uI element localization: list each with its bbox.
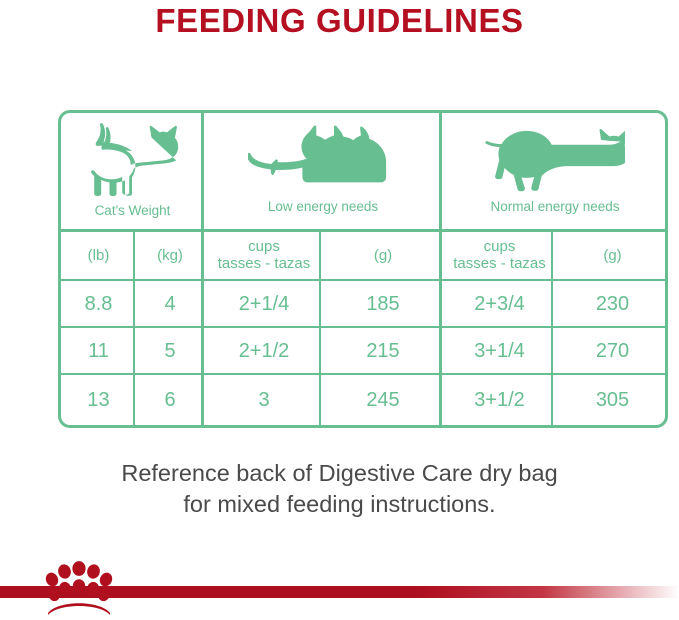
column-header-normal-cups: cups tasses - tazas: [442, 231, 557, 281]
table-cell-normal-cups: 2+3/4: [442, 281, 557, 328]
table-cell-lb: 8.8: [61, 281, 136, 328]
reference-note-line2: for mixed feeding instructions.: [0, 489, 679, 520]
table-cell-lb: 13: [61, 375, 136, 425]
table-cell-normal-grams: 270: [557, 328, 668, 375]
group-header-label: Normal energy needs: [490, 199, 619, 214]
walking-cat-icon: [485, 125, 625, 195]
table-cell-normal-grams: 305: [557, 375, 668, 425]
column-header-line1: cups: [484, 239, 516, 256]
column-divider-lb-kg: [133, 231, 135, 425]
column-divider-low-cups-g: [319, 231, 321, 425]
column-header-low-grams: (g): [324, 231, 442, 281]
column-header-normal-grams: (g): [557, 231, 668, 281]
group-header-low-energy: Low energy needs: [204, 113, 442, 231]
table-cell-normal-cups: 3+1/4: [442, 328, 557, 375]
column-header-line2: tasses - tazas: [218, 256, 311, 273]
table-cell-low-grams: 245: [324, 375, 442, 425]
row-divider-2: [61, 326, 665, 328]
reference-note-line1: Reference back of Digestive Care dry bag: [0, 458, 679, 489]
table-cell-low-grams: 185: [324, 281, 442, 328]
table-cell-low-cups: 2+1/4: [204, 281, 324, 328]
brand-bar-left: [0, 586, 46, 598]
group-divider-1: [201, 113, 204, 425]
table-cell-kg: 5: [136, 328, 204, 375]
group-header-label: Cat's Weight: [95, 203, 171, 218]
row-divider-3: [61, 373, 665, 375]
table-cell-normal-grams: 230: [557, 281, 668, 328]
group-divider-2: [439, 113, 442, 425]
reference-note: Reference back of Digestive Care dry bag…: [0, 458, 679, 520]
table-cell-low-cups: 2+1/2: [204, 328, 324, 375]
column-divider-normal-cups-g: [551, 231, 553, 425]
column-header-line1: (g): [374, 248, 392, 265]
table-cell-lb: 11: [61, 328, 136, 375]
group-header-cats-weight: Cat's Weight: [61, 113, 204, 231]
column-header-kg: (kg): [136, 231, 204, 281]
table-cell-kg: 6: [136, 375, 204, 425]
column-header-line1: cups: [248, 239, 280, 256]
column-header-line1: (lb): [88, 248, 110, 265]
lying-cat-icon: [248, 125, 398, 195]
page-title: FEEDING GUIDELINES: [0, 2, 679, 40]
feeding-guidelines-table: Cat's Weight Low energy needs Normal ene…: [58, 110, 668, 428]
row-divider-1: [61, 279, 665, 281]
standing-cat-icon: [87, 121, 179, 199]
column-header-low-cups: cups tasses - tazas: [204, 231, 324, 281]
group-header-normal-energy: Normal energy needs: [442, 113, 668, 231]
column-header-lb: (lb): [61, 231, 136, 281]
royal-canin-crown-logo: [42, 556, 116, 615]
row-divider-header: [61, 229, 665, 232]
table-cell-normal-cups: 3+1/2: [442, 375, 557, 425]
table-cell-low-cups: 3: [204, 375, 324, 425]
column-header-line2: tasses - tazas: [453, 256, 546, 273]
column-header-line1: (g): [603, 248, 621, 265]
group-header-label: Low energy needs: [268, 199, 378, 214]
table-cell-kg: 4: [136, 281, 204, 328]
table-grid: Cat's Weight Low energy needs Normal ene…: [61, 113, 665, 425]
column-header-line1: (kg): [157, 248, 183, 265]
table-cell-low-grams: 215: [324, 328, 442, 375]
